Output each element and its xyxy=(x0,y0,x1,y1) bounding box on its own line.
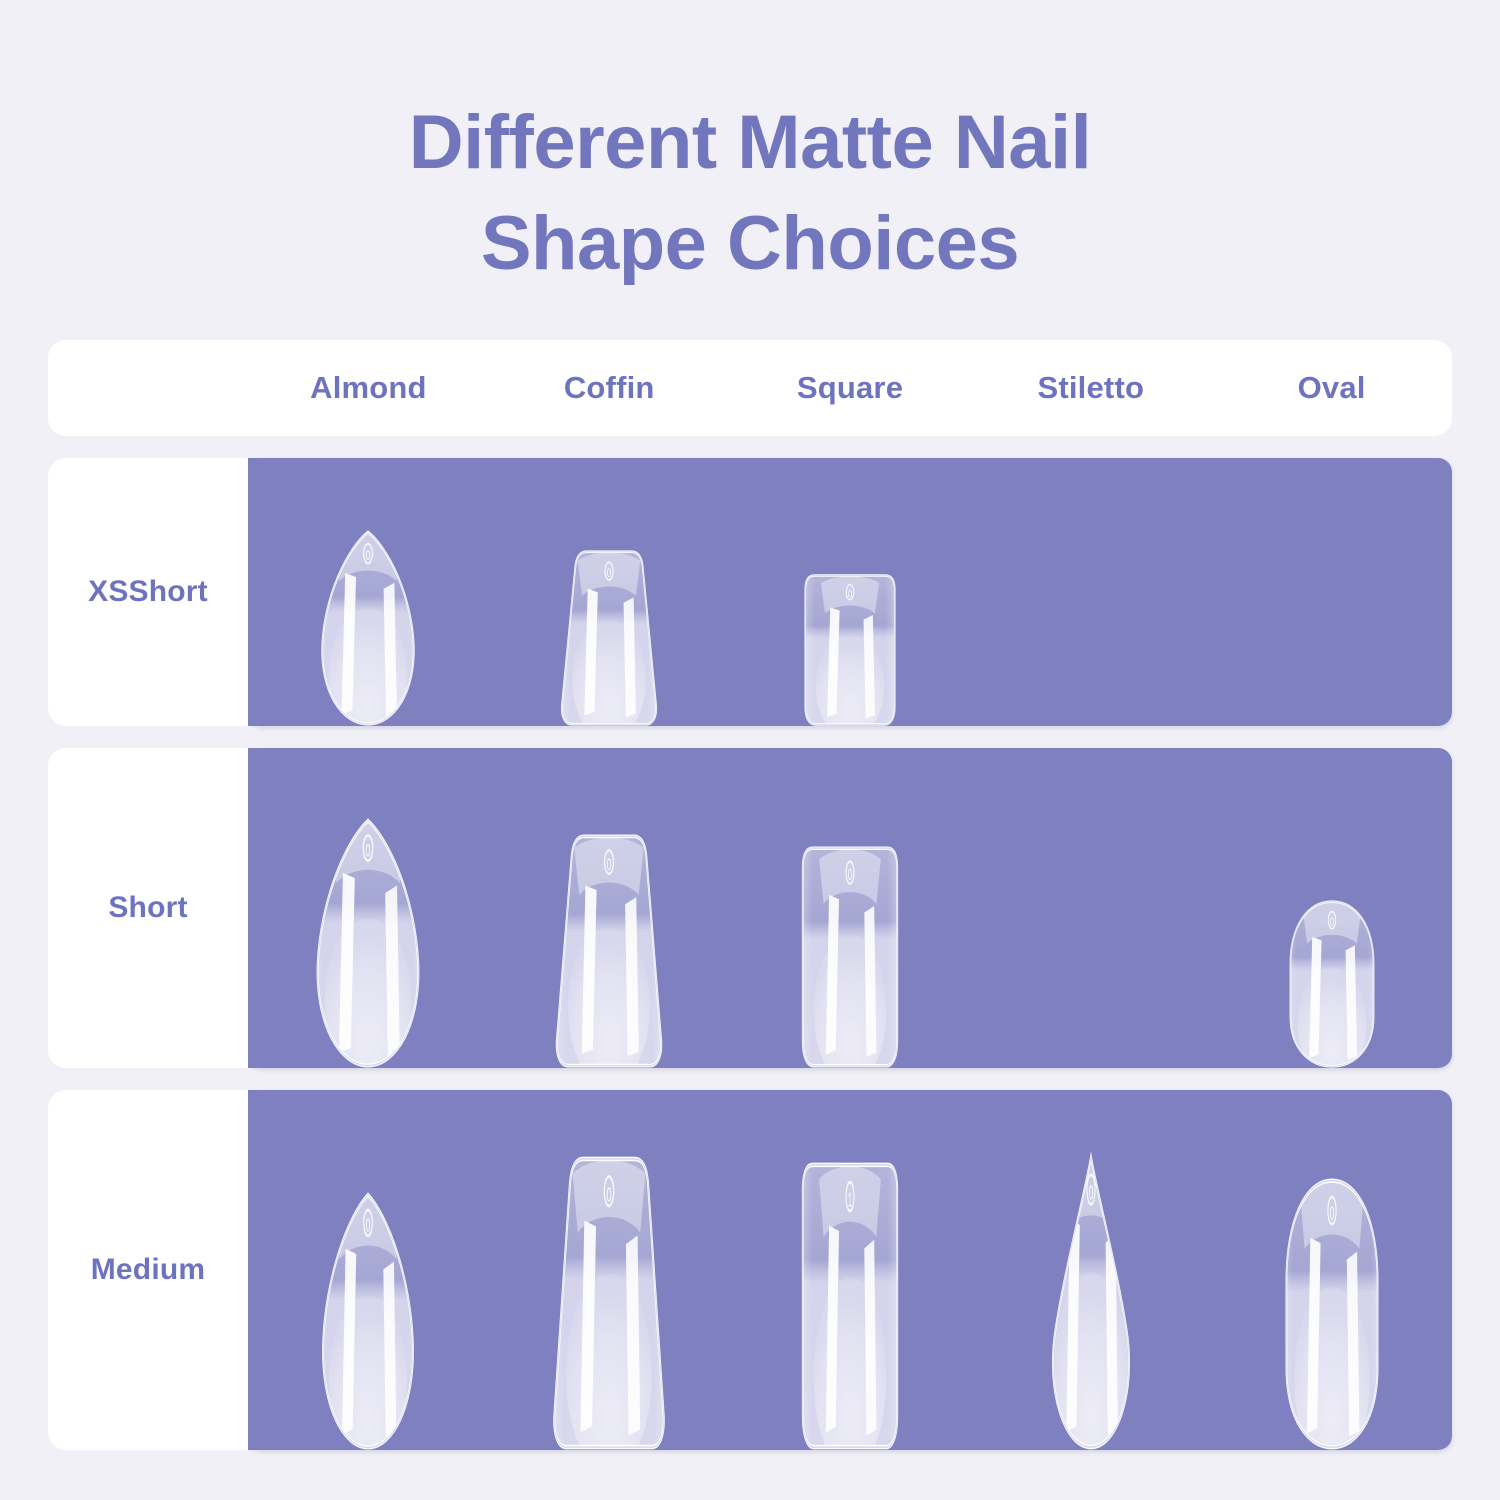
column-header-stiletto: Stiletto xyxy=(970,370,1211,406)
nail-coffin-svg: 0 xyxy=(547,834,671,1068)
cell-short-square[interactable]: 0 xyxy=(730,748,971,1068)
nail-coffin-short[interactable]: 0 xyxy=(547,834,671,1068)
nail-square-svg: 0 xyxy=(795,846,905,1068)
nail-shape-size-table: Almond Coffin Square Stiletto Oval XSSho… xyxy=(48,340,1452,1450)
cell-xs-short-oval xyxy=(1211,458,1452,726)
cell-short-coffin[interactable]: 0 xyxy=(489,748,730,1068)
nail-right-edge-sheen xyxy=(887,1162,905,1450)
cell-medium-coffin[interactable]: 0 xyxy=(489,1090,730,1450)
column-header-coffin: Coffin xyxy=(489,370,730,406)
row-panel-xs-short: 0 xyxy=(248,458,1452,726)
nail-right-edge-sheen xyxy=(887,846,905,1068)
cell-xs-short-stiletto xyxy=(970,458,1211,726)
nail-size-mark: 0 xyxy=(366,840,371,860)
column-header-oval: Oval xyxy=(1211,370,1452,406)
nail-almond-svg: 0 xyxy=(308,530,428,726)
nail-left-edge-sheen xyxy=(795,846,813,1068)
nail-size-mark: 0 xyxy=(607,855,612,874)
cell-xs-short-coffin[interactable]: 0 xyxy=(489,458,730,726)
nail-stiletto-svg: 0 xyxy=(1035,1154,1147,1450)
nail-square-short[interactable]: 0 xyxy=(795,846,905,1068)
row-panel-short: 0 xyxy=(248,748,1452,1068)
nail-oval-svg: 0 xyxy=(1275,1178,1389,1450)
nail-size-mark: 0 xyxy=(1330,916,1334,929)
cell-short-oval[interactable]: 0 xyxy=(1211,748,1452,1068)
nail-left-edge-sheen xyxy=(795,1162,813,1450)
nail-size-mark: 0 xyxy=(607,568,612,581)
nail-square-svg: 1 xyxy=(795,1162,905,1450)
cell-medium-stiletto[interactable]: 0 xyxy=(970,1090,1211,1450)
nail-size-mark: 0 xyxy=(1329,1204,1333,1225)
table-row-medium: Medium xyxy=(48,1090,1452,1450)
nail-square-svg: 0 xyxy=(798,574,902,726)
row-label-line-1: XS xyxy=(88,571,128,614)
nail-stiletto-medium[interactable]: 0 xyxy=(1035,1154,1147,1450)
nail-left-edge-sheen xyxy=(1275,1178,1293,1450)
nail-oval-medium[interactable]: 0 xyxy=(1275,1178,1389,1450)
row-cells: 0 xyxy=(248,458,1452,726)
nail-coffin-medium[interactable]: 0 xyxy=(544,1156,674,1450)
nail-almond-short[interactable]: 0 xyxy=(302,818,434,1068)
table-body: XSShort xyxy=(48,458,1452,1450)
nail-size-mark: 1 xyxy=(848,1189,852,1211)
nail-oval-short[interactable]: 0 xyxy=(1280,900,1384,1068)
nail-almond-medium[interactable]: 0 xyxy=(309,1192,427,1450)
row-cells: 0 xyxy=(248,748,1452,1068)
page-title-line-2: Shape Choices xyxy=(0,193,1500,294)
nail-oval-svg: 0 xyxy=(1280,900,1384,1068)
cell-xs-short-almond[interactable]: 0 xyxy=(248,458,489,726)
nail-right-edge-sheen xyxy=(1370,1178,1388,1450)
row-cells: 0 xyxy=(248,1090,1452,1450)
column-header-square: Square xyxy=(730,370,971,406)
cell-short-stiletto xyxy=(970,748,1211,1068)
column-header-list: Almond Coffin Square Stiletto Oval xyxy=(248,370,1452,406)
nail-coffin-svg: 0 xyxy=(544,1156,674,1450)
page-title: Different Matte Nail Shape Choices xyxy=(0,92,1500,294)
nail-almond-svg: 0 xyxy=(309,1192,427,1450)
nail-size-mark: 0 xyxy=(1089,1182,1094,1204)
nail-left-edge-sheen xyxy=(1035,1154,1053,1450)
cell-short-almond[interactable]: 0 xyxy=(248,748,489,1068)
nail-size-mark: 0 xyxy=(366,549,371,563)
table-row-short: Short xyxy=(48,748,1452,1068)
nail-left-edge-sheen xyxy=(1280,900,1297,1068)
row-label-short: Short xyxy=(48,748,248,1068)
row-label-line-1: Short xyxy=(108,887,187,930)
cell-medium-almond[interactable]: 0 xyxy=(248,1090,489,1450)
row-label-line-1: Medium xyxy=(91,1249,206,1292)
row-label-medium: Medium xyxy=(48,1090,248,1450)
nail-coffin-svg: 0 xyxy=(553,550,665,726)
nail-right-edge-sheen xyxy=(1129,1154,1147,1450)
nail-right-edge-sheen xyxy=(885,574,902,726)
cell-xs-short-square[interactable]: 0 xyxy=(730,458,971,726)
nail-almond-svg: 0 xyxy=(302,818,434,1068)
nail-almond-xs-short[interactable]: 0 xyxy=(308,530,428,726)
table-header-card: Almond Coffin Square Stiletto Oval xyxy=(48,340,1452,436)
nail-coffin-xs-short[interactable]: 0 xyxy=(553,550,665,726)
row-label-line-2: Short xyxy=(129,571,208,614)
nail-square-medium[interactable]: 1 xyxy=(795,1162,905,1450)
table-row-xs-short: XSShort xyxy=(48,458,1452,726)
column-header-almond: Almond xyxy=(248,370,489,406)
page-title-line-1: Different Matte Nail xyxy=(0,92,1500,193)
nail-left-edge-sheen xyxy=(798,574,815,726)
nail-size-mark: 0 xyxy=(607,1184,612,1206)
cell-medium-oval[interactable]: 0 xyxy=(1211,1090,1452,1450)
nail-size-mark: 0 xyxy=(848,588,852,600)
nail-size-mark: 0 xyxy=(848,866,852,884)
cell-medium-square[interactable]: 1 xyxy=(730,1090,971,1450)
nail-square-xs-short[interactable]: 0 xyxy=(798,574,902,726)
nail-right-edge-sheen xyxy=(1367,900,1384,1068)
row-label-xs-short: XSShort xyxy=(48,458,248,726)
nail-size-mark: 0 xyxy=(366,1215,371,1236)
row-panel-medium: 0 xyxy=(248,1090,1452,1450)
